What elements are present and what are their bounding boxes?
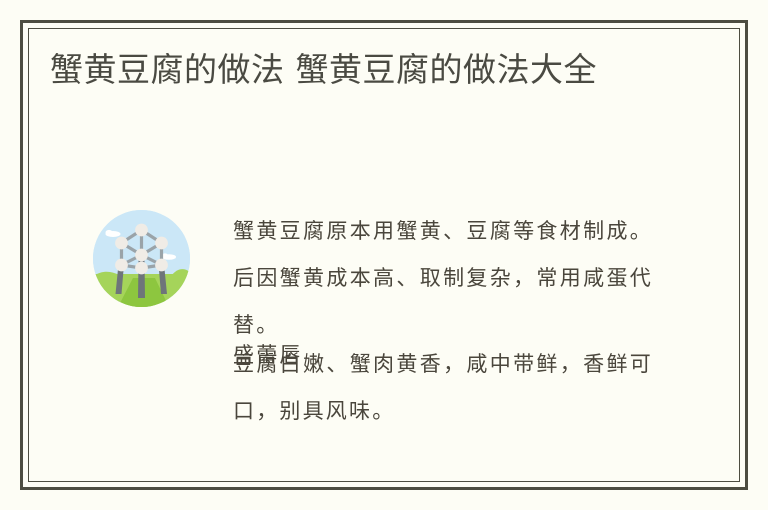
page-root: 蟹黄豆腐的做法 蟹黄豆腐的做法大全 <box>0 0 768 510</box>
atomium-illustration <box>93 210 190 307</box>
atomium-icon <box>93 210 190 307</box>
article-paragraph-2-text: 豆腐白嫩、蟹肉黄香，咸中带鲜，香鲜可口，别具风味。 <box>233 352 653 423</box>
article-body: 蟹黄豆腐原本用蟹黄、豆腐等食材制成。后因蟹黄成本高、取制复杂，常用咸蛋代替。 盛… <box>233 208 653 435</box>
article-paragraph-2: 盛蕾唇 豆腐白嫩、蟹肉黄香，咸中带鲜，香鲜可口，别具风味。 <box>233 341 653 435</box>
page-title: 蟹黄豆腐的做法 蟹黄豆腐的做法大全 <box>50 44 660 96</box>
article-paragraph-1: 蟹黄豆腐原本用蟹黄、豆腐等食材制成。后因蟹黄成本高、取制复杂，常用咸蛋代替。 <box>233 208 653 349</box>
